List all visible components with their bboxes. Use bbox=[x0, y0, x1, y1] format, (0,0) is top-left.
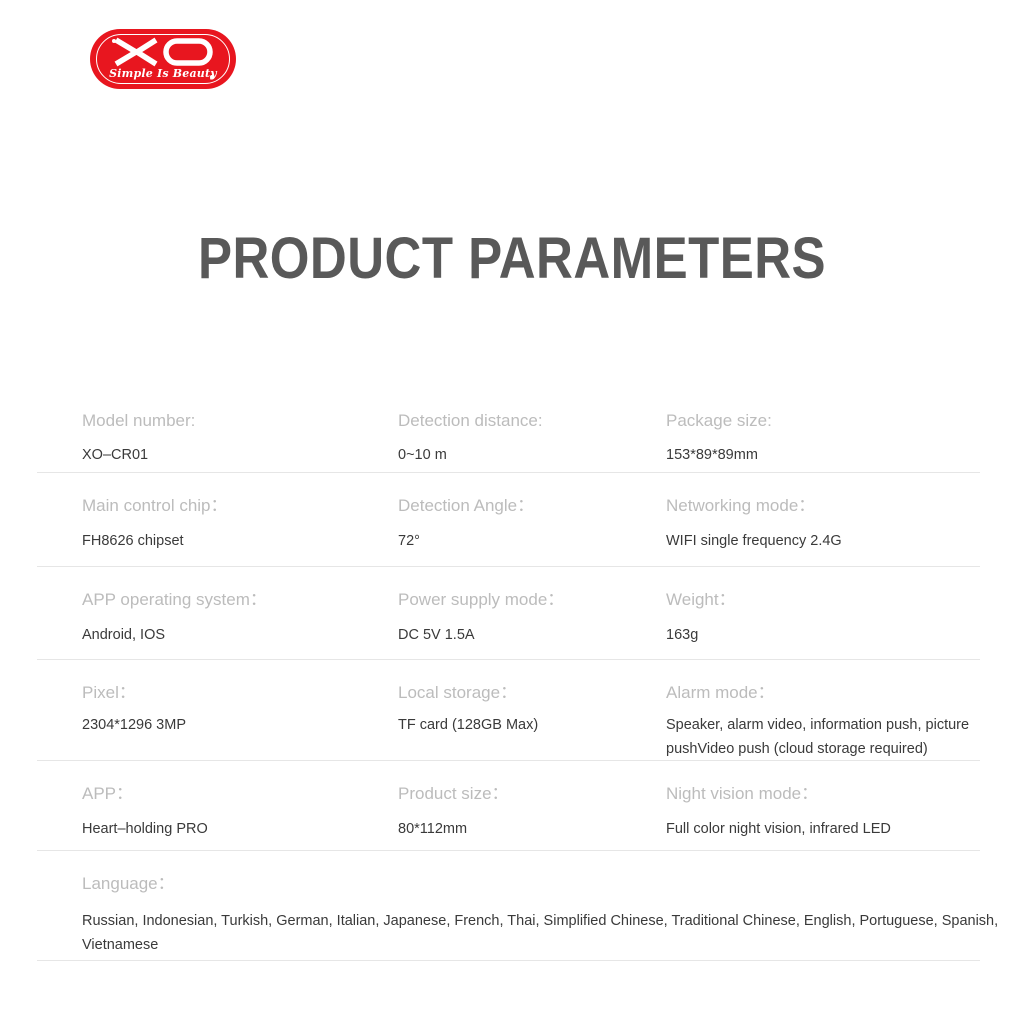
product-parameters-table: Model number: XO–CR01 Detection distance… bbox=[37, 390, 980, 961]
spec-label: Language： bbox=[82, 851, 1012, 895]
spec-value: Full color night vision, infrared LED bbox=[666, 805, 891, 841]
spec-cell-weight: Weight： 163g bbox=[666, 567, 736, 647]
spec-label: Model number: bbox=[82, 390, 195, 432]
spec-cell-language: Language： Russian, Indonesian, Turkish, … bbox=[82, 851, 1012, 957]
spec-value: 72° bbox=[398, 517, 534, 553]
spec-label: APP operating system： bbox=[82, 567, 267, 611]
spec-value: XO–CR01 bbox=[82, 432, 195, 467]
spec-value: TF card (128GB Max) bbox=[398, 704, 538, 737]
table-row: Main control chip： FH8626 chipset Detect… bbox=[37, 473, 980, 567]
spec-value: FH8626 chipset bbox=[82, 517, 228, 553]
spec-cell-package-size: Package size: 153*89*89mm bbox=[666, 390, 772, 467]
spec-value: 163g bbox=[666, 611, 736, 647]
logo-tagline: Simple Is Beauty bbox=[90, 68, 236, 80]
table-row: Pixel： 2304*1296 3MP Local storage： TF c… bbox=[37, 660, 980, 761]
spec-value: Android, IOS bbox=[82, 611, 267, 647]
spec-label: Main control chip： bbox=[82, 473, 228, 517]
spec-cell-detection-distance: Detection distance: 0~10 m bbox=[398, 390, 543, 467]
table-row: APP operating system： Android, IOS Power… bbox=[37, 567, 980, 660]
spec-cell-networking-mode: Networking mode： WIFI single frequency 2… bbox=[666, 473, 842, 553]
spec-value: 0~10 m bbox=[398, 432, 543, 467]
spec-cell-night-vision-mode: Night vision mode： Full color night visi… bbox=[666, 761, 891, 841]
spec-label: Detection Angle： bbox=[398, 473, 534, 517]
spec-value: 153*89*89mm bbox=[666, 432, 772, 467]
spec-label: Package size: bbox=[666, 390, 772, 432]
spec-cell-model-number: Model number: XO–CR01 bbox=[82, 390, 195, 467]
spec-value: DC 5V 1.5A bbox=[398, 611, 564, 647]
spec-label: APP： bbox=[82, 761, 208, 805]
spec-label: Local storage： bbox=[398, 660, 538, 704]
spec-cell-local-storage: Local storage： TF card (128GB Max) bbox=[398, 660, 538, 737]
spec-label: Pixel： bbox=[82, 660, 186, 704]
spec-value: 80*112mm bbox=[398, 805, 509, 841]
table-row: APP： Heart–holding PRO Product size： 80*… bbox=[37, 761, 980, 851]
spec-cell-product-size: Product size： 80*112mm bbox=[398, 761, 509, 841]
spec-cell-power-supply-mode: Power supply mode： DC 5V 1.5A bbox=[398, 567, 564, 647]
spec-cell-alarm-mode: Alarm mode： Speaker, alarm video, inform… bbox=[666, 660, 1014, 761]
page-title: PRODUCT PARAMETERS bbox=[61, 228, 962, 290]
spec-value: WIFI single frequency 2.4G bbox=[666, 517, 842, 553]
spec-cell-app: APP： Heart–holding PRO bbox=[82, 761, 208, 841]
spec-label: Weight： bbox=[666, 567, 736, 611]
spec-cell-app-operating-system: APP operating system： Android, IOS bbox=[82, 567, 267, 647]
spec-label: Night vision mode： bbox=[666, 761, 891, 805]
spec-value: 2304*1296 3MP bbox=[82, 704, 186, 737]
brand-logo: Simple Is Beauty bbox=[90, 29, 236, 89]
spec-value: Russian, Indonesian, Turkish, German, It… bbox=[82, 895, 1012, 957]
spec-cell-detection-angle: Detection Angle： 72° bbox=[398, 473, 534, 553]
spec-label: Product size： bbox=[398, 761, 509, 805]
logo-xo-mark bbox=[90, 36, 236, 68]
spec-label: Alarm mode： bbox=[666, 660, 1014, 704]
spec-value: Heart–holding PRO bbox=[82, 805, 208, 841]
table-row: Model number: XO–CR01 Detection distance… bbox=[37, 390, 980, 473]
table-row: Language： Russian, Indonesian, Turkish, … bbox=[37, 851, 980, 961]
spec-label: Networking mode： bbox=[666, 473, 842, 517]
spec-cell-pixel: Pixel： 2304*1296 3MP bbox=[82, 660, 186, 737]
spec-label: Power supply mode： bbox=[398, 567, 564, 611]
spec-value: Speaker, alarm video, information push, … bbox=[666, 704, 1014, 761]
spec-cell-main-control-chip: Main control chip： FH8626 chipset bbox=[82, 473, 228, 553]
spec-label: Detection distance: bbox=[398, 390, 543, 432]
